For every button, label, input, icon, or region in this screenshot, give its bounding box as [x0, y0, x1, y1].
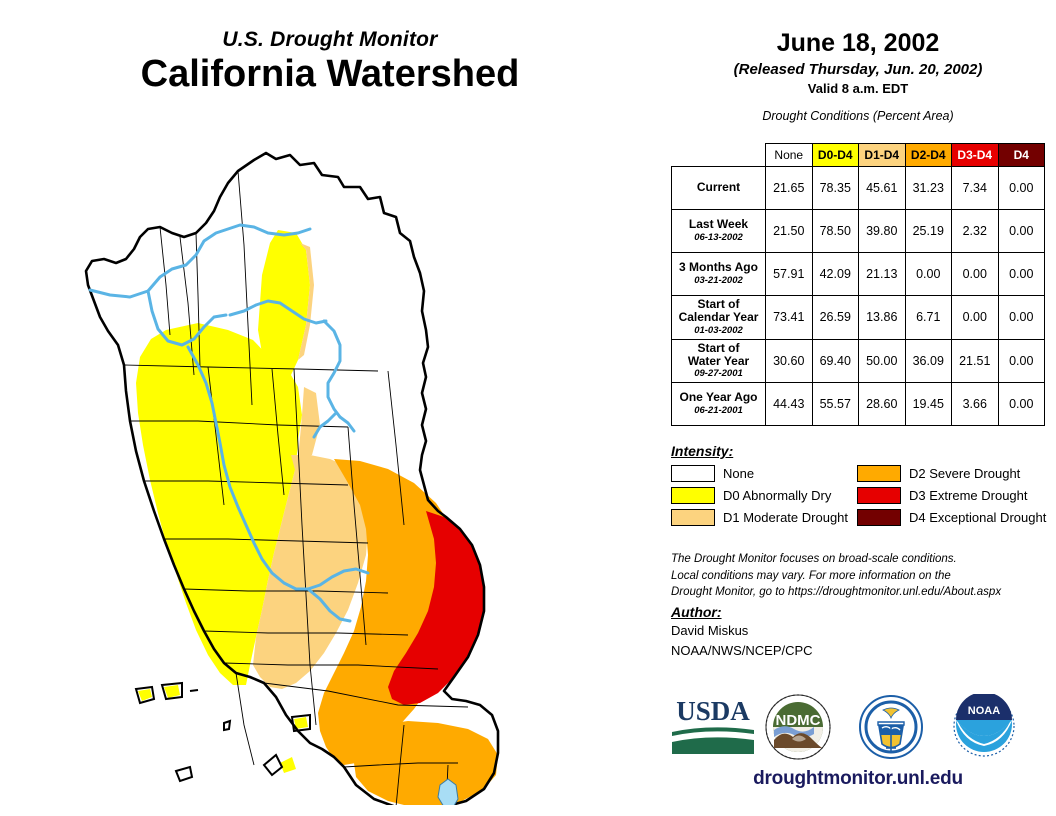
- legend-swatch: [857, 509, 901, 526]
- table-row: Start ofWater Year09-27-200130.6069.4050…: [672, 339, 1045, 383]
- disclaimer-line-2: Local conditions may vary. For more info…: [671, 568, 1051, 585]
- row-label-date: 01-03-2002: [675, 326, 762, 337]
- intensity-legend: Intensity: NoneD2 Severe DroughtD0 Abnor…: [671, 443, 1051, 526]
- row-label: Current: [672, 167, 766, 210]
- legend-label: D1 Moderate Drought: [723, 510, 848, 525]
- col-header-d4: D4: [998, 144, 1045, 167]
- legend-item: D1 Moderate Drought: [671, 509, 857, 526]
- table-row: Start ofCalendar Year01-03-200273.4126.5…: [672, 296, 1045, 340]
- table-caption: Drought Conditions (Percent Area): [660, 109, 1056, 123]
- legend-item: D3 Extreme Drought: [857, 487, 1043, 504]
- page-title: California Watershed: [0, 53, 660, 97]
- col-header-d1d4: D1-D4: [859, 144, 906, 167]
- release-date: (Released Thursday, Jun. 20, 2002): [660, 62, 1056, 79]
- legend-swatch: [671, 509, 715, 526]
- row-label: One Year Ago06-21-2001: [672, 383, 766, 426]
- table-cell-value: 31.23: [905, 167, 952, 210]
- table-cell-value: 42.09: [812, 253, 859, 296]
- row-label-line: Start of: [675, 342, 762, 355]
- table-cell-value: 0.00: [952, 253, 999, 296]
- table-header-row: None D0-D4 D1-D4 D2-D4 D3-D4 D4: [672, 144, 1045, 167]
- department-of-commerce-seal: [856, 694, 926, 762]
- table-cell-value: 78.35: [812, 167, 859, 210]
- table-cell-value: 2.32: [952, 210, 999, 253]
- logo-row: USDA NDMC: [660, 694, 1056, 764]
- table-cell-value: 6.71: [905, 296, 952, 340]
- usda-logo: USDA: [670, 694, 756, 756]
- table-cell-value: 21.13: [859, 253, 906, 296]
- table-cell-value: 0.00: [998, 210, 1045, 253]
- island-d0-2: [164, 685, 180, 698]
- col-header-d3d4: D3-D4: [952, 144, 999, 167]
- table-cell-value: 21.50: [766, 210, 813, 253]
- report-date: June 18, 2002: [660, 30, 1056, 58]
- table-cell-value: 13.86: [859, 296, 906, 340]
- table-cell-value: 78.50: [812, 210, 859, 253]
- table-cell-value: 0.00: [952, 296, 999, 340]
- table-cell-value: 44.43: [766, 383, 813, 426]
- program-title: U.S. Drought Monitor: [0, 28, 660, 51]
- valid-time: Valid 8 a.m. EDT: [660, 82, 1056, 96]
- table-row: One Year Ago06-21-200144.4355.5728.6019.…: [672, 383, 1045, 426]
- legend-grid: NoneD2 Severe DroughtD0 Abnormally DryD3…: [671, 465, 1051, 526]
- table-cell-value: 19.45: [905, 383, 952, 426]
- row-label-line: Water Year: [675, 355, 762, 368]
- author-heading: Author:: [671, 604, 1051, 620]
- legend-item: None: [671, 465, 857, 482]
- map-svg: [48, 125, 648, 805]
- table-body: Current21.6578.3545.6131.237.340.00Last …: [672, 167, 1045, 426]
- disclaimer-line-1: The Drought Monitor focuses on broad-sca…: [671, 551, 1051, 568]
- site-url[interactable]: droughtmonitor.unl.edu: [660, 768, 1056, 790]
- table-header: None D0-D4 D1-D4 D2-D4 D3-D4 D4: [672, 144, 1045, 167]
- legend-item: D0 Abnormally Dry: [671, 487, 857, 504]
- ndmc-logo-text: NDMC: [776, 712, 821, 729]
- row-label-line: 3 Months Ago: [675, 261, 762, 274]
- table-cell-value: 28.60: [859, 383, 906, 426]
- author-name: David Miskus: [671, 622, 1051, 640]
- legend-label: D4 Exceptional Drought: [909, 510, 1046, 525]
- disclaimer-text: The Drought Monitor focuses on broad-sca…: [671, 551, 1051, 601]
- author-block: Author: David Miskus NOAA/NWS/NCEP/CPC: [671, 604, 1051, 659]
- table-cell-value: 73.41: [766, 296, 813, 340]
- legend-title: Intensity:: [671, 443, 1051, 459]
- table-cell-value: 57.91: [766, 253, 813, 296]
- date-block: June 18, 2002 (Released Thursday, Jun. 2…: [660, 0, 1056, 96]
- usda-logo-text: USDA: [676, 696, 750, 726]
- noaa-logo: NOAA: [948, 694, 1020, 760]
- legend-swatch: [857, 487, 901, 504]
- legend-swatch: [671, 465, 715, 482]
- table-cell-value: 0.00: [998, 383, 1045, 426]
- table-row: Last Week06-13-200221.5078.5039.8025.192…: [672, 210, 1045, 253]
- table-cell-value: 21.65: [766, 167, 813, 210]
- legend-label: D2 Severe Drought: [909, 466, 1020, 481]
- map-layers: [86, 153, 498, 805]
- region-d1-east: [298, 387, 320, 460]
- author-affiliation: NOAA/NWS/NCEP/CPC: [671, 642, 1051, 660]
- table-cell-value: 36.09: [905, 339, 952, 383]
- row-label-line: One Year Ago: [675, 391, 762, 404]
- legend-label: None: [723, 466, 754, 481]
- table-row: Current21.6578.3545.6131.237.340.00: [672, 167, 1045, 210]
- noaa-logo-text: NOAA: [968, 705, 1000, 717]
- col-header-none: None: [766, 144, 813, 167]
- row-label-line: Start of: [675, 298, 762, 311]
- table-row: 3 Months Ago03-21-200257.9142.0921.130.0…: [672, 253, 1045, 296]
- row-label: 3 Months Ago03-21-2002: [672, 253, 766, 296]
- row-label-line: Last Week: [675, 218, 762, 231]
- table-cell-value: 55.57: [812, 383, 859, 426]
- legend-label: D3 Extreme Drought: [909, 488, 1028, 503]
- drought-conditions-table: None D0-D4 D1-D4 D2-D4 D3-D4 D4 Current2…: [671, 143, 1045, 426]
- ndmc-logo: NDMC: [762, 694, 834, 762]
- legend-item: D4 Exceptional Drought: [857, 509, 1043, 526]
- table-cell-value: 0.00: [998, 339, 1045, 383]
- table-cell-value: 25.19: [905, 210, 952, 253]
- drought-monitor-page: U.S. Drought Monitor California Watershe…: [0, 0, 1056, 816]
- legend-label: D0 Abnormally Dry: [723, 488, 831, 503]
- table-cell-value: 30.60: [766, 339, 813, 383]
- row-label: Last Week06-13-2002: [672, 210, 766, 253]
- table-cell-value: 45.61: [859, 167, 906, 210]
- table-cell-value: 0.00: [998, 167, 1045, 210]
- right-panel: June 18, 2002 (Released Thursday, Jun. 2…: [660, 0, 1056, 816]
- table-cell-value: 21.51: [952, 339, 999, 383]
- table-cell-value: 26.59: [812, 296, 859, 340]
- table-cell-value: 0.00: [998, 296, 1045, 340]
- table-cell-value: 7.34: [952, 167, 999, 210]
- table-cell-value: 69.40: [812, 339, 859, 383]
- table-cell-value: 39.80: [859, 210, 906, 253]
- row-label: Start ofWater Year09-27-2001: [672, 339, 766, 383]
- col-header-d2d4: D2-D4: [905, 144, 952, 167]
- title-block: U.S. Drought Monitor California Watershe…: [0, 28, 660, 97]
- legend-item: D2 Severe Drought: [857, 465, 1043, 482]
- col-header-d0d4: D0-D4: [812, 144, 859, 167]
- row-label-date: 06-21-2001: [675, 406, 762, 417]
- table-corner-cell: [672, 144, 766, 167]
- table-cell-value: 0.00: [998, 253, 1045, 296]
- legend-swatch: [671, 487, 715, 504]
- disclaimer-line-3: Drought Monitor, go to https://droughtmo…: [671, 584, 1051, 601]
- row-label-date: 06-13-2002: [675, 233, 762, 244]
- legend-swatch: [857, 465, 901, 482]
- row-label-line: Current: [675, 181, 762, 194]
- row-label-date: 09-27-2001: [675, 369, 762, 380]
- table-cell-value: 50.00: [859, 339, 906, 383]
- island-d0-4: [280, 757, 296, 773]
- row-label-date: 03-21-2002: [675, 276, 762, 287]
- table-cell-value: 3.66: [952, 383, 999, 426]
- row-label: Start ofCalendar Year01-03-2002: [672, 296, 766, 340]
- drought-map: [48, 125, 648, 805]
- row-label-line: Calendar Year: [675, 311, 762, 324]
- table-cell-value: 0.00: [905, 253, 952, 296]
